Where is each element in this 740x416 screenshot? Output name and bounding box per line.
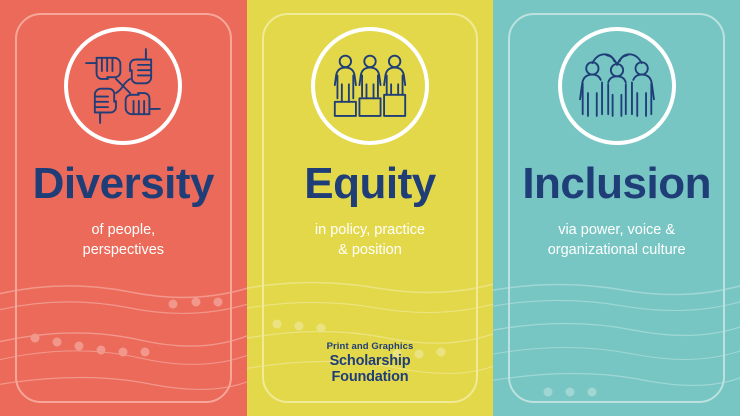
four-interlocking-hands-icon bbox=[64, 27, 182, 145]
panel-equity: Equity in policy, practice & position Pr… bbox=[247, 0, 494, 416]
dei-graphic: Diversity of people, perspectives bbox=[0, 0, 740, 416]
logo-line-scholarship: Scholarship bbox=[247, 353, 494, 369]
panel-subhead-diversity: of people, perspectives bbox=[69, 220, 178, 261]
panel-inclusion: Inclusion via power, voice & organizatio… bbox=[493, 0, 740, 416]
panel-subhead-line2: perspectives bbox=[83, 240, 164, 261]
panel-diversity: Diversity of people, perspectives bbox=[0, 0, 247, 416]
panel-subhead-line1: of people, bbox=[83, 220, 164, 241]
panel-headline-inclusion: Inclusion bbox=[522, 161, 711, 208]
three-people-on-boxes-icon bbox=[311, 27, 429, 145]
logo-line-print-and-graphics: Print and Graphics bbox=[247, 342, 494, 353]
logo-line-foundation: Foundation bbox=[247, 369, 494, 385]
panel-subhead-line1: in policy, practice bbox=[315, 220, 425, 241]
three-people-arms-linked-icon bbox=[558, 27, 676, 145]
panel-headline-diversity: Diversity bbox=[33, 161, 214, 208]
panel-subhead-line1: via power, voice & bbox=[548, 220, 686, 241]
panel-subhead-equity: in policy, practice & position bbox=[301, 220, 439, 261]
panel-subhead-line2: & position bbox=[315, 240, 425, 261]
pgsf-logo: Print and Graphics Scholarship Foundatio… bbox=[247, 342, 494, 385]
panel-headline-equity: Equity bbox=[304, 161, 435, 208]
panel-subhead-inclusion: via power, voice & organizational cultur… bbox=[534, 220, 700, 261]
panel-subhead-line2: organizational culture bbox=[548, 240, 686, 261]
